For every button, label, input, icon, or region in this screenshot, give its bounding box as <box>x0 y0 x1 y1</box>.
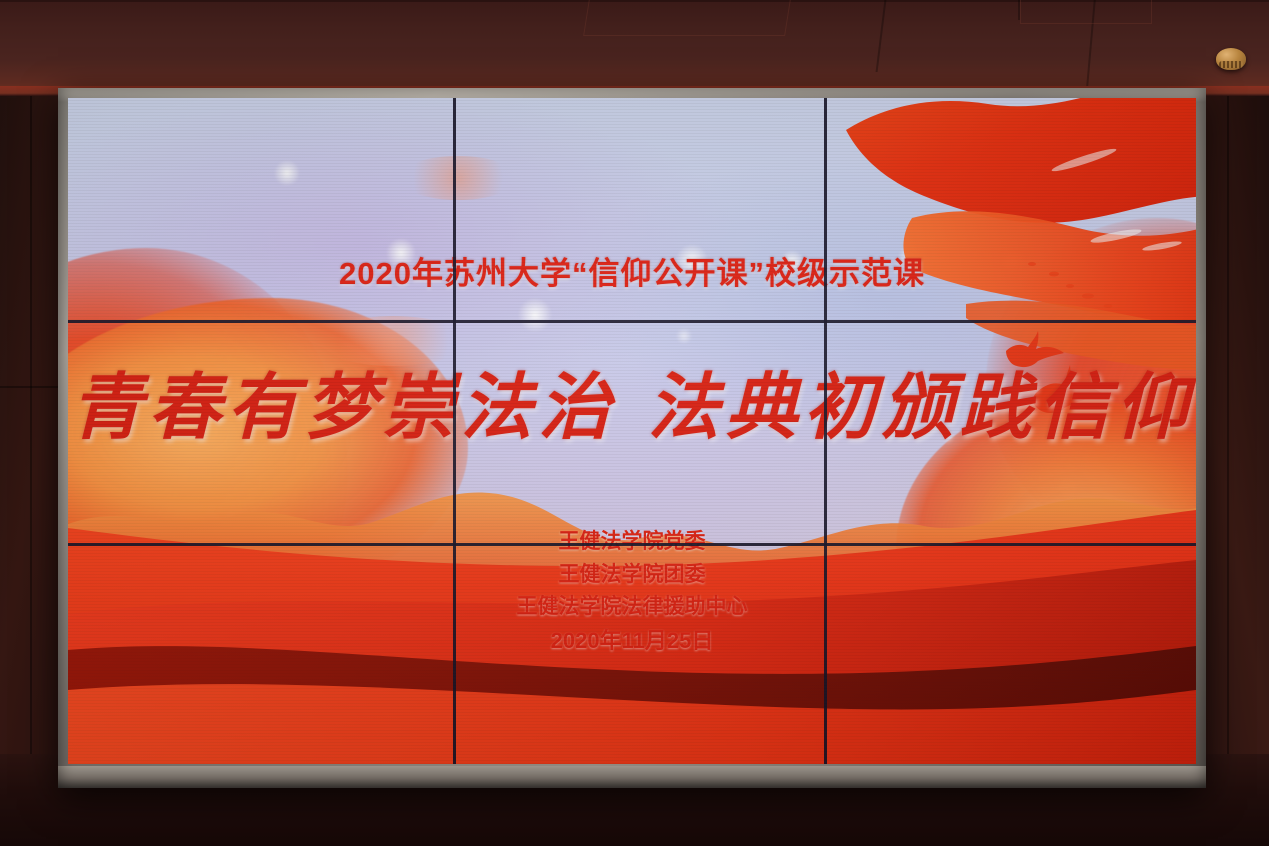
ceiling-seam <box>876 0 887 72</box>
video-wall-seam-vertical <box>824 98 827 764</box>
slide-headline: 青春有梦崇法治 法典初颁践信仰 <box>68 348 1196 453</box>
credit-line: 王健法学院团委 <box>68 559 1196 592</box>
ceiling <box>0 0 1269 96</box>
smoke-detector-icon <box>1216 48 1246 70</box>
slide-kicker: 2020年苏州大学“信仰公开课”校级示范课 <box>68 248 1196 293</box>
credit-line: 王健法学院法律援助中心 <box>68 591 1196 624</box>
video-wall-seam-horizontal <box>68 320 1196 323</box>
video-wall-seam-vertical <box>453 98 456 764</box>
screenshot-root: 2020年苏州大学“信仰公开课”校级示范课 青春有梦崇法治 法典初颁践信仰 王健… <box>0 0 1269 846</box>
video-wall-seam-horizontal <box>68 543 1196 546</box>
slide-date: 2020年11月25日 <box>68 624 1196 658</box>
ceiling-panel <box>583 0 795 36</box>
video-wall-screen[interactable]: 2020年苏州大学“信仰公开课”校级示范课 青春有梦崇法治 法典初颁践信仰 王健… <box>68 98 1196 764</box>
slide-text-layer: 2020年苏州大学“信仰公开课”校级示范课 青春有梦崇法治 法典初颁践信仰 王健… <box>68 98 1196 764</box>
ceiling-panel <box>1020 0 1152 24</box>
